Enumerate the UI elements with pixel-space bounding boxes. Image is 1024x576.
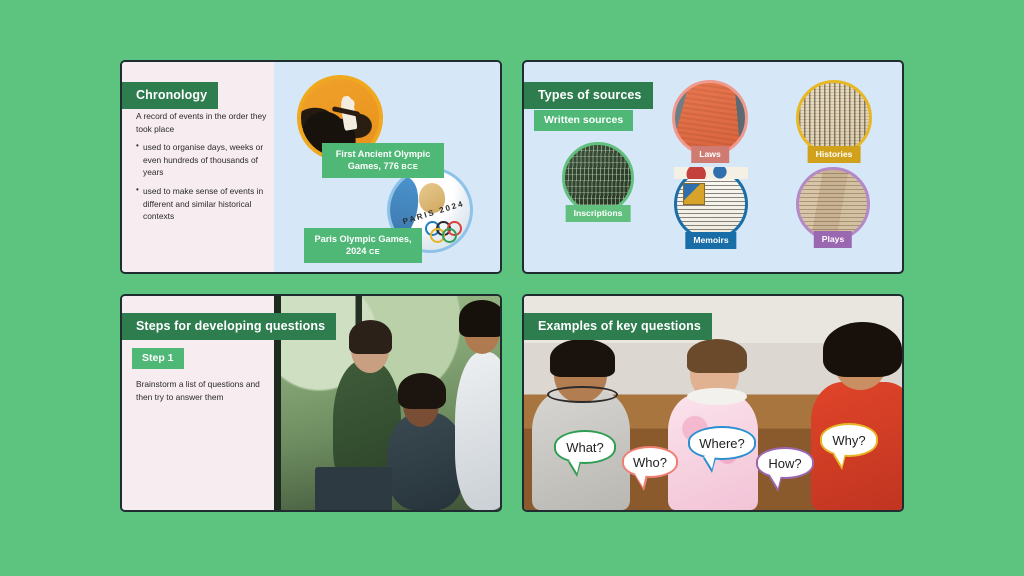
caption-text: Paris Olympic Games, 2024 [314, 234, 411, 256]
person-right-hair [459, 300, 500, 336]
chronology-body: A record of events in the order they too… [136, 110, 268, 229]
source-item-inscriptions: Inscriptions [562, 142, 634, 214]
bubble-text: What? [566, 440, 604, 455]
chronology-bullet: used to make sense of events in differen… [136, 185, 268, 223]
manuscript-header-decoration [674, 167, 748, 179]
illuminated-initial [683, 183, 705, 205]
source-label-inscriptions: Inscriptions [566, 205, 631, 222]
olympic-rings-icon [425, 221, 473, 243]
panel-examples-of-key-questions: Examples of key questions What? Who? Whe… [522, 294, 904, 512]
chronology-intro: A record of events in the order they too… [136, 110, 268, 135]
step-badge: Step 1 [132, 348, 184, 369]
parchment-play-script-image [796, 167, 870, 241]
source-label-histories: Histories [808, 146, 861, 163]
bubble-text: Why? [832, 433, 865, 448]
bubble-text: Where? [699, 436, 745, 451]
laptop [315, 467, 392, 510]
era-label: CE [369, 247, 380, 256]
chronology-bullet-list: used to organise days, weeks or even hun… [136, 141, 268, 223]
chronology-bullet: used to organise days, weeks or even hun… [136, 141, 268, 179]
source-item-memoirs: Memoirs [674, 167, 748, 241]
source-item-histories: Histories [796, 80, 872, 156]
speech-bubble-how: How? [756, 447, 814, 479]
source-label-plays: Plays [814, 231, 852, 248]
bubble-text: How? [768, 456, 801, 471]
clay-tablet-laws-image [672, 80, 748, 156]
slide-canvas: Chronology A record of events in the ord… [0, 0, 1024, 576]
source-label-laws: Laws [691, 146, 729, 163]
student-center-headphones [687, 388, 747, 405]
panel-steps-for-developing-questions: Steps for developing questions Step 1 Br… [120, 294, 502, 512]
stone-inscription-image [562, 142, 634, 214]
student-center-hair [687, 339, 747, 373]
handwritten-scroll-image [796, 80, 872, 156]
speech-bubble-what: What? [554, 430, 616, 464]
speech-bubble-where: Where? [688, 426, 756, 460]
illuminated-manuscript-image [674, 167, 748, 241]
panel-title-chronology: Chronology [122, 82, 218, 109]
source-item-plays: Plays [796, 167, 870, 241]
student-left-hair [550, 339, 614, 378]
caption-paris-games: Paris Olympic Games, 2024 CE [304, 228, 422, 263]
source-item-laws: Laws [672, 80, 748, 156]
bubble-text: Who? [633, 455, 667, 470]
panel-title-types-of-sources: Types of sources [524, 82, 653, 109]
caption-first-ancient-games: First Ancient Olympic Games, 776 BCE [322, 143, 444, 178]
panel-types-of-sources: Types of sources Written sources Inscrip… [522, 60, 904, 274]
panel-title-steps: Steps for developing questions [122, 313, 336, 340]
speech-bubble-why: Why? [820, 423, 878, 457]
step-description: Brainstorm a list of questions and then … [136, 378, 268, 403]
person-right-body [455, 352, 500, 510]
panel-chronology: Chronology A record of events in the ord… [120, 60, 502, 274]
source-label-memoirs: Memoirs [685, 232, 736, 249]
era-label: BCE [401, 162, 418, 171]
subtitle-written-sources: Written sources [534, 110, 633, 131]
student-right-hair [823, 322, 902, 378]
panel-title-examples: Examples of key questions [524, 313, 712, 340]
person-seated-hair [398, 373, 445, 409]
student-left-headphones [547, 386, 619, 403]
speech-bubble-who: Who? [622, 446, 678, 478]
person-standing-hair [349, 320, 392, 354]
